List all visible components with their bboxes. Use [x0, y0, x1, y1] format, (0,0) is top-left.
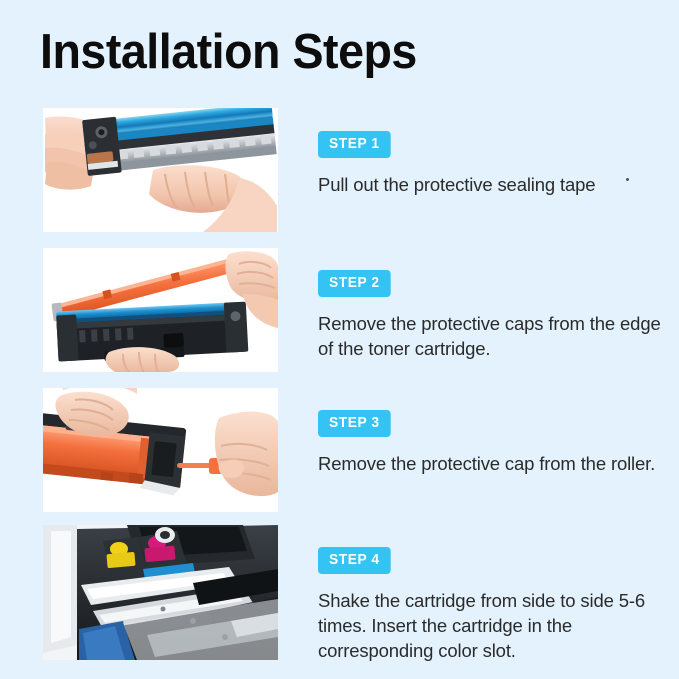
step-4-badge: STEP 4	[318, 547, 391, 574]
step-3-photo	[43, 388, 278, 512]
step-item: STEP 2 Remove the protective caps from t…	[43, 248, 643, 372]
step-4-description: Shake the cartridge from side to side 5-…	[318, 588, 663, 663]
hands-removing-orange-protective-cap-from-cartridge-illustration	[43, 248, 278, 372]
step-4-photo	[43, 525, 278, 660]
step-3-badge: STEP 3	[318, 410, 391, 437]
step-4-text: STEP 4 Shake the cartridge from side to …	[318, 547, 663, 663]
stray-punctuation-dot	[626, 178, 629, 181]
step-3-description: Remove the protective cap from the rolle…	[318, 451, 663, 476]
step-2-badge: STEP 2	[318, 270, 391, 297]
printer-interior-color-cartridge-slots-illustration	[43, 525, 278, 660]
page-title: Installation Steps	[40, 22, 417, 82]
step-item: STEP 4 Shake the cartridge from side to …	[43, 525, 643, 660]
step-2-description: Remove the protective caps from the edge…	[318, 311, 663, 361]
step-1-text: STEP 1 Pull out the protective sealing t…	[318, 131, 663, 197]
step-2-photo	[43, 248, 278, 372]
step-1-photo	[43, 108, 278, 232]
step-2-text: STEP 2 Remove the protective caps from t…	[318, 270, 663, 361]
step-3-text: STEP 3 Remove the protective cap from th…	[318, 410, 663, 476]
step-1-badge: STEP 1	[318, 131, 391, 158]
step-item: STEP 1 Pull out the protective sealing t…	[43, 108, 643, 232]
hands-pulling-sealing-tape-from-cyan-drum-cartridge-illustration	[43, 108, 278, 232]
step-item: STEP 3 Remove the protective cap from th…	[43, 388, 643, 512]
hand-pulling-orange-roller-cap-illustration	[43, 388, 278, 512]
step-1-description: Pull out the protective sealing tape	[318, 172, 663, 197]
